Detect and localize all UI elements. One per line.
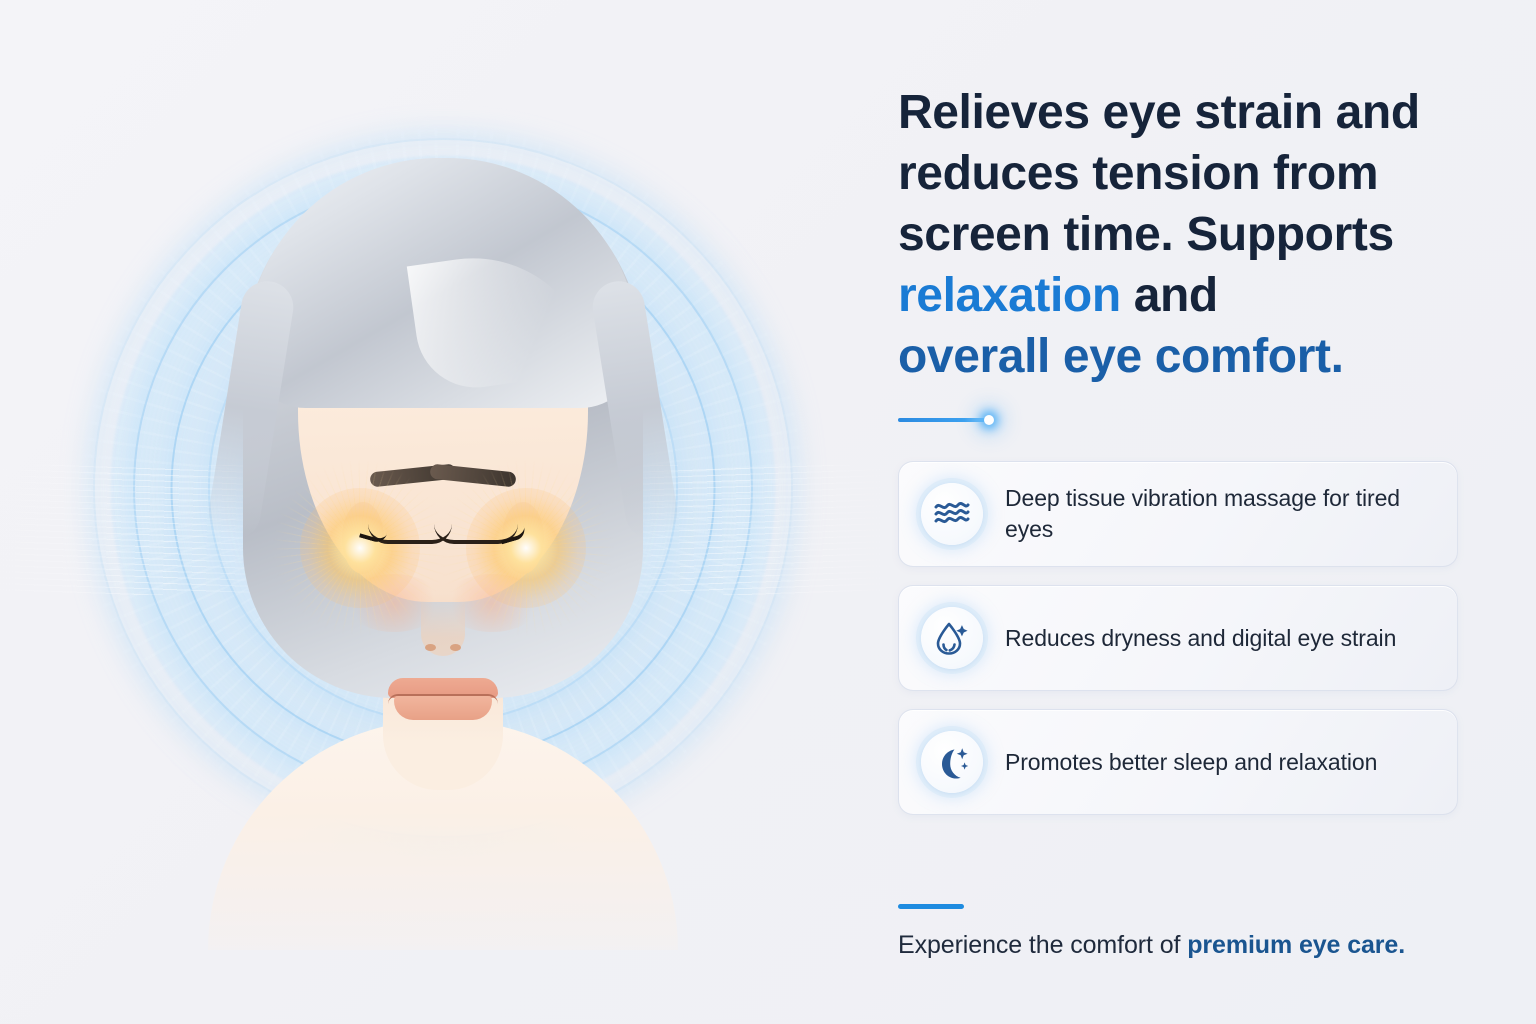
illustration-stage xyxy=(48,70,838,970)
lip-line xyxy=(388,694,498,704)
promo-banner: Relieves eye strain and reduces tension … xyxy=(0,0,1536,1024)
footer-section: Experience the comfort of premium eye ca… xyxy=(898,904,1478,962)
footer-text-plain: Experience the comfort of xyxy=(898,931,1187,959)
closed-eye-right xyxy=(434,524,518,546)
feature-card-label: Deep tissue vibration massage for tired … xyxy=(1005,483,1435,545)
crescent-moon-stars-icon xyxy=(921,731,983,793)
divider-glow-dot xyxy=(984,415,994,425)
feature-card-sleep[interactable]: Promotes better sleep and relaxation xyxy=(898,709,1458,815)
divider-line xyxy=(898,418,990,422)
headline-part-2: and xyxy=(1121,269,1218,322)
eyebrow-right xyxy=(429,464,516,488)
accent-divider xyxy=(898,413,1008,427)
nostril-right xyxy=(450,644,461,651)
feature-card-label: Reduces dryness and digital eye strain xyxy=(1005,623,1396,654)
hair-parting-highlight xyxy=(407,243,593,395)
nose xyxy=(421,594,465,656)
headline-part-1: Relieves eye strain and reduces tension … xyxy=(898,86,1420,261)
feature-card-list: Deep tissue vibration massage for tired … xyxy=(898,461,1458,815)
waves-vibration-icon xyxy=(921,483,983,545)
headline-highlight-comfort: overall eye comfort. xyxy=(898,330,1344,383)
footer-text-strong: premium eye care. xyxy=(1187,931,1405,959)
woman-figure xyxy=(183,70,703,970)
headline-highlight-relaxation: relaxation xyxy=(898,269,1121,322)
water-droplet-sparkle-icon xyxy=(921,607,983,669)
feature-card-vibration[interactable]: Deep tissue vibration massage for tired … xyxy=(898,461,1458,567)
illustration-panel xyxy=(0,0,880,1024)
hair-front xyxy=(247,158,639,408)
content-panel: Relieves eye strain and reduces tension … xyxy=(880,0,1536,1024)
footer-accent-bar xyxy=(898,904,964,909)
mouth xyxy=(388,678,498,722)
page-title: Relieves eye strain and reduces tension … xyxy=(898,82,1458,387)
feature-card-label: Promotes better sleep and relaxation xyxy=(1005,747,1377,778)
footer-tagline: Experience the comfort of premium eye ca… xyxy=(898,929,1478,962)
nostril-left xyxy=(425,644,436,651)
feature-card-dryness[interactable]: Reduces dryness and digital eye strain xyxy=(898,585,1458,691)
